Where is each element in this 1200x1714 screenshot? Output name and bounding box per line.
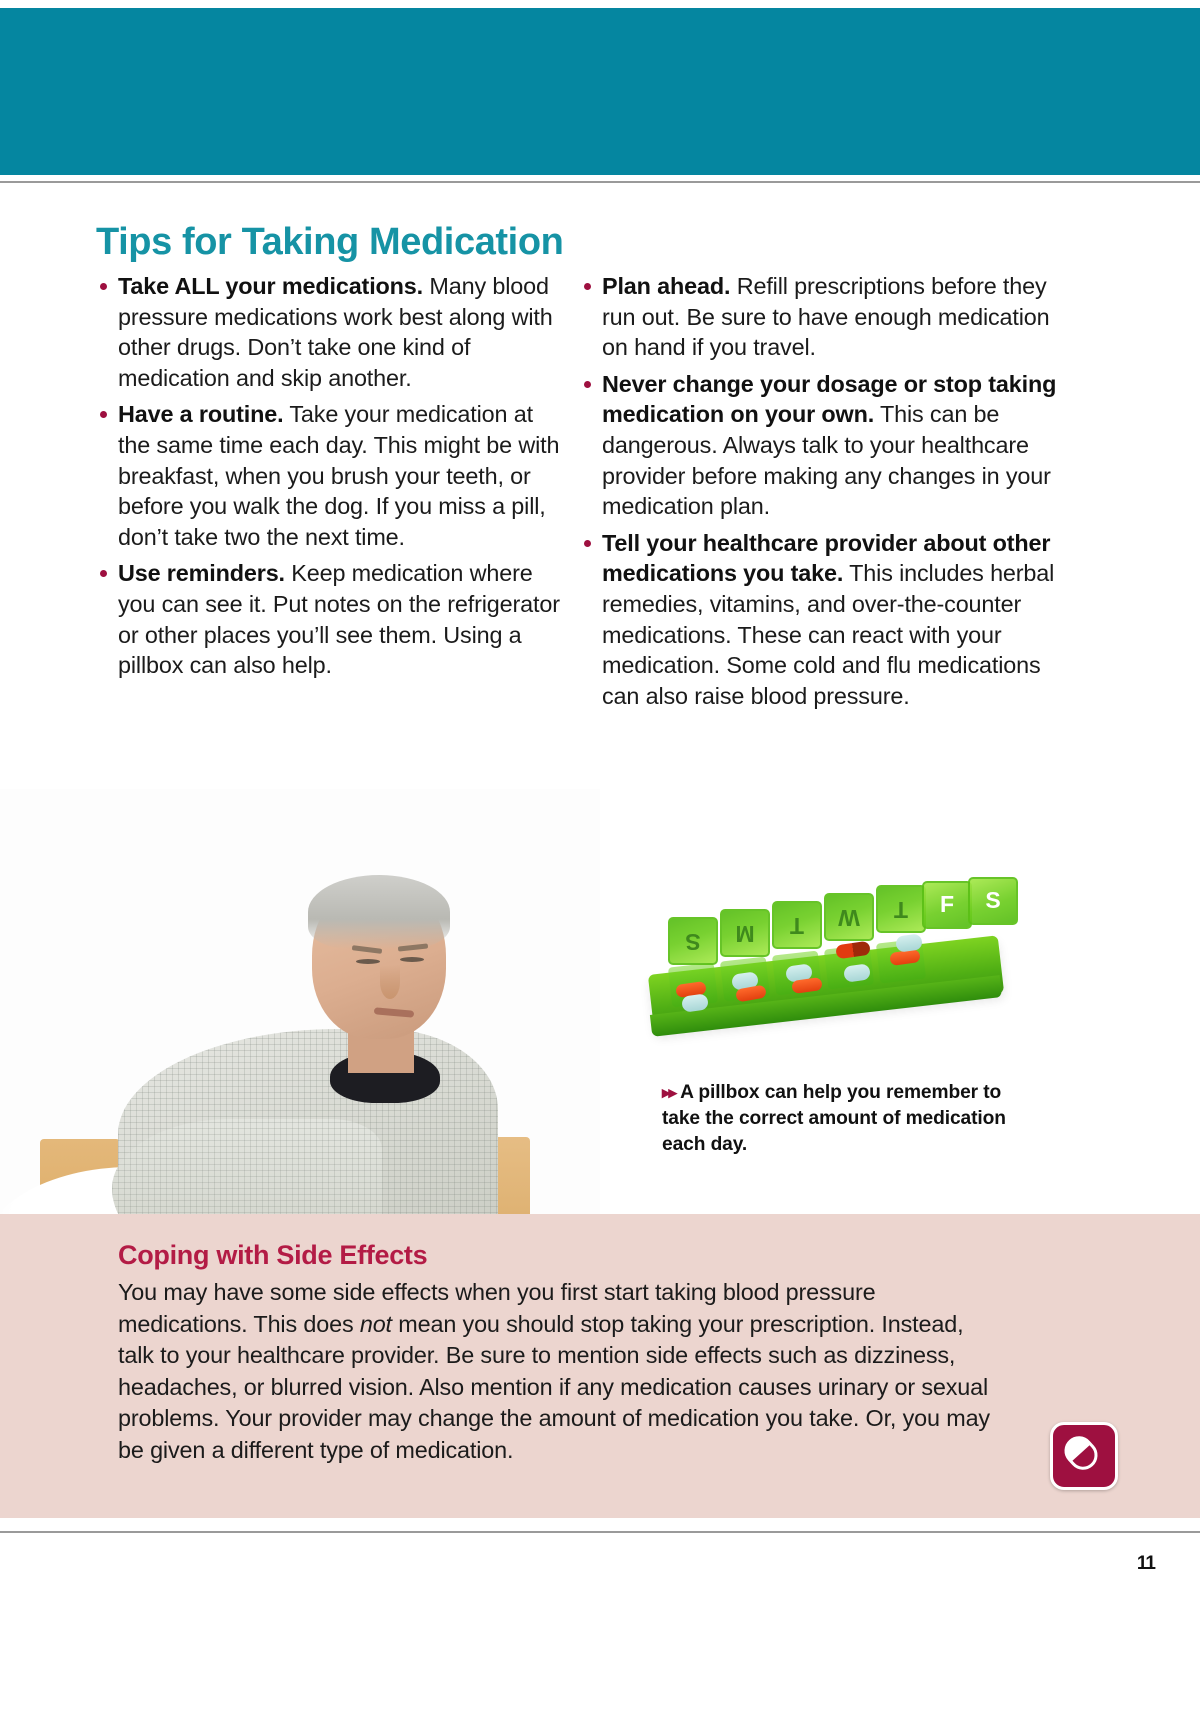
side-effects-emphasis: not [360,1311,392,1337]
man-eye-right [400,957,424,962]
list-item: Plan ahead. Refill prescriptions before … [580,271,1058,363]
side-effects-panel: Coping with Side Effects You may have so… [0,1214,1200,1518]
pillbox-lid-thursday[interactable]: T [876,885,926,933]
page-title: Tips for Taking Medication [96,223,563,261]
list-item: Take ALL your medications. Many blood pr… [96,271,566,393]
pillbox-lid-sunday[interactable]: S [668,917,718,965]
tip-lead: Have a routine. [118,401,283,427]
tips-column-right: Plan ahead. Refill prescriptions before … [580,271,1058,717]
pillbox-caption: ▸▸A pillbox can help you remember to tak… [662,1080,1042,1158]
tip-lead: Take ALL your medications. [118,273,423,299]
list-item: Never change your dosage or stop taking … [580,369,1058,522]
photo-weekly-pillbox: S M T W T F S [640,873,1020,1063]
caption-text: A pillbox can help you remember to take … [662,1082,1006,1155]
man-hair [308,875,450,949]
list-item: Tell your healthcare provider about othe… [580,528,1058,712]
pillbox-lid-monday[interactable]: M [720,909,770,957]
tip-lead: Plan ahead. [602,273,730,299]
pillbox-lid-saturday[interactable]: S [968,877,1018,925]
man-eye-left [356,959,380,964]
page-content: Tips for Taking Medication Take ALL your… [0,183,1200,1714]
side-effects-heading: Coping with Side Effects [118,1240,427,1271]
brochure-page: Tips for Taking Medication Take ALL your… [0,0,1200,1714]
side-effects-body: You may have some side effects when you … [118,1277,998,1467]
capsule-icon [1050,1422,1118,1490]
pillbox-lid-friday[interactable]: F [922,881,972,929]
list-item: Use reminders. Keep medication where you… [96,558,566,680]
caption-arrow-icon: ▸▸ [662,1083,675,1102]
tip-lead: Use reminders. [118,560,285,586]
footer-divider-rule [0,1531,1200,1533]
list-item: Have a routine. Take your medication at … [96,399,566,552]
pillbox-lid-tuesday[interactable]: T [772,901,822,949]
man-nose [380,965,400,999]
top-teal-banner [0,8,1200,175]
tips-list-left: Take ALL your medications. Many blood pr… [96,271,566,681]
tips-column-left: Take ALL your medications. Many blood pr… [96,271,566,687]
pillbox-lid-wednesday[interactable]: W [824,893,874,941]
tips-list-right: Plan ahead. Refill prescriptions before … [580,271,1058,711]
page-number: 11 [1137,1553,1155,1575]
